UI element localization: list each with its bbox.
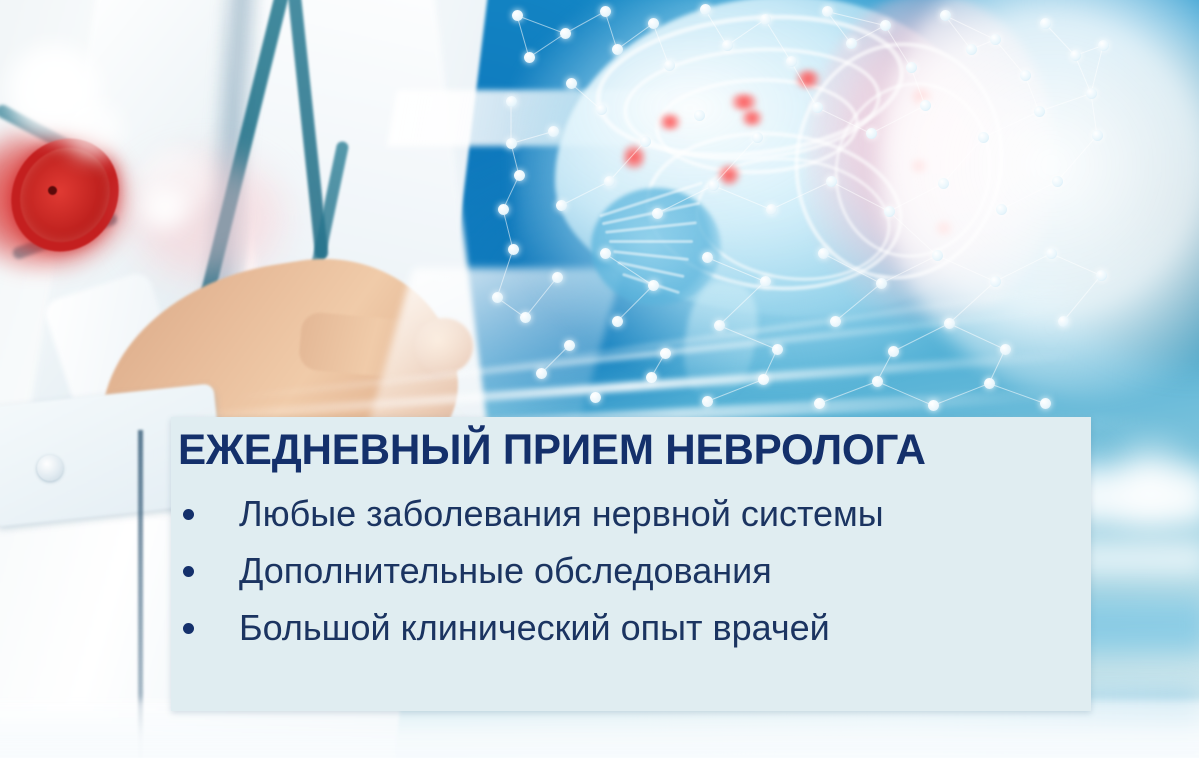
network-edge — [617, 285, 654, 322]
network-edge — [817, 107, 871, 134]
network-node — [498, 204, 509, 215]
network-node — [1070, 50, 1081, 61]
network-node — [612, 316, 623, 327]
list-item: Любые заболевания нервной системы — [179, 489, 1084, 546]
list-item: Дополнительные обследования — [179, 546, 1084, 603]
network-edge — [945, 15, 995, 40]
network-node — [648, 280, 659, 291]
network-node — [714, 320, 725, 331]
network-edge — [497, 249, 514, 297]
network-node — [978, 132, 989, 143]
network-node — [708, 180, 719, 191]
network-edge — [1001, 181, 1057, 210]
benefits-list: Любые заболевания нервной системы Дополн… — [179, 489, 1084, 660]
network-edge — [713, 137, 758, 186]
list-item: Большой клинический опыт врачей — [179, 603, 1084, 660]
network-node — [536, 368, 547, 379]
network-node — [694, 110, 705, 121]
network-node — [990, 276, 1001, 287]
network-node — [1034, 106, 1045, 117]
network-node — [556, 200, 567, 211]
network-node — [548, 126, 559, 137]
network-node — [818, 248, 829, 259]
network-node — [920, 100, 931, 111]
network-edge — [889, 211, 938, 256]
network-node — [786, 56, 797, 67]
network-node — [722, 40, 733, 51]
list-item-label: Большой клинический опыт врачей — [239, 603, 830, 653]
network-node — [846, 38, 857, 49]
network-node — [600, 248, 611, 259]
network-node — [766, 204, 777, 215]
network-edge — [605, 253, 654, 286]
bullet-dot-icon — [183, 623, 194, 634]
network-edge — [1091, 45, 1104, 93]
network-edge — [995, 39, 1026, 76]
network-edge — [525, 277, 558, 318]
network-node — [906, 62, 917, 73]
network-node — [752, 132, 763, 143]
network-edge — [1057, 135, 1098, 182]
network-node — [506, 96, 517, 107]
network-node — [552, 272, 563, 283]
network-edge — [771, 181, 831, 210]
network-node — [760, 14, 771, 25]
network-node — [508, 244, 519, 255]
network-edge — [937, 255, 995, 282]
network-node — [1098, 40, 1109, 51]
network-node — [1020, 70, 1031, 81]
network-edge — [719, 281, 766, 326]
network-node — [884, 206, 895, 217]
network-node — [888, 346, 899, 357]
network-node — [612, 44, 623, 55]
network-node — [940, 10, 951, 21]
bullet-dot-icon — [183, 509, 194, 520]
network-edge — [871, 105, 925, 134]
network-edge — [713, 185, 771, 210]
network-node — [996, 204, 1007, 215]
network-edge — [517, 15, 565, 34]
network-edge — [885, 25, 912, 68]
network-node — [664, 60, 675, 71]
network-edge — [765, 19, 792, 62]
network-node — [1046, 248, 1057, 259]
network-node — [812, 102, 823, 113]
network-node — [1092, 130, 1103, 141]
network-node — [1040, 18, 1051, 29]
network-node — [1058, 316, 1069, 327]
network-node — [1000, 344, 1011, 355]
network-edge — [511, 131, 553, 144]
network-node — [822, 6, 833, 17]
list-item-label: Дополнительные обследования — [239, 546, 772, 596]
network-node — [564, 340, 575, 351]
network-node — [872, 376, 883, 387]
network-edge — [727, 19, 766, 46]
network-node — [648, 18, 659, 29]
network-edge — [561, 181, 609, 206]
network-node — [514, 170, 525, 181]
network-node — [1096, 270, 1107, 281]
network-edge — [657, 185, 713, 214]
network-edge — [995, 253, 1051, 282]
list-item-label: Любые заболевания нервной системы — [239, 489, 884, 539]
info-panel: ЕЖЕДНЕВНЫЙ ПРИЕМ НЕВРОЛОГА Любые заболев… — [171, 417, 1091, 711]
network-edge — [609, 141, 646, 182]
network-edge — [949, 323, 1005, 350]
network-node — [506, 138, 517, 149]
network-node — [938, 178, 949, 189]
network-edge — [889, 183, 943, 212]
network-node — [700, 4, 711, 15]
network-node — [760, 276, 771, 287]
network-node — [652, 208, 663, 219]
network-edge — [707, 257, 765, 282]
network-node — [702, 252, 713, 263]
page-title: ЕЖЕДНЕВНЫЙ ПРИЕМ НЕВРОЛОГА — [178, 426, 1060, 475]
network-node — [876, 278, 887, 289]
network-node — [772, 344, 783, 355]
network-node — [520, 312, 531, 323]
network-edge — [943, 137, 984, 184]
network-node — [866, 128, 877, 139]
network-node — [604, 176, 615, 187]
network-node — [596, 104, 607, 115]
network-edge — [791, 61, 818, 107]
network-node — [932, 250, 943, 261]
network-node — [524, 52, 535, 63]
network-edge — [823, 253, 881, 284]
network-node — [600, 6, 611, 17]
network-edge — [831, 181, 889, 212]
bullet-dot-icon — [183, 566, 194, 577]
medical-banner: ЕЖЕДНЕВНЫЙ ПРИЕМ НЕВРОЛОГА Любые заболев… — [0, 0, 1199, 758]
network-node — [640, 136, 651, 147]
network-node — [880, 20, 891, 31]
network-edge — [565, 11, 605, 34]
network-edge — [1051, 253, 1101, 276]
network-node — [826, 176, 837, 187]
network-node — [990, 34, 1001, 45]
network-node — [984, 378, 995, 389]
network-node — [1086, 88, 1097, 99]
network-edge — [1039, 93, 1091, 112]
network-node — [966, 44, 977, 55]
network-node — [560, 28, 571, 39]
network-node — [566, 78, 577, 89]
network-node — [492, 292, 503, 303]
network-edge — [881, 255, 937, 284]
network-node — [512, 10, 523, 21]
network-edge — [983, 111, 1039, 138]
network-node — [1052, 176, 1063, 187]
